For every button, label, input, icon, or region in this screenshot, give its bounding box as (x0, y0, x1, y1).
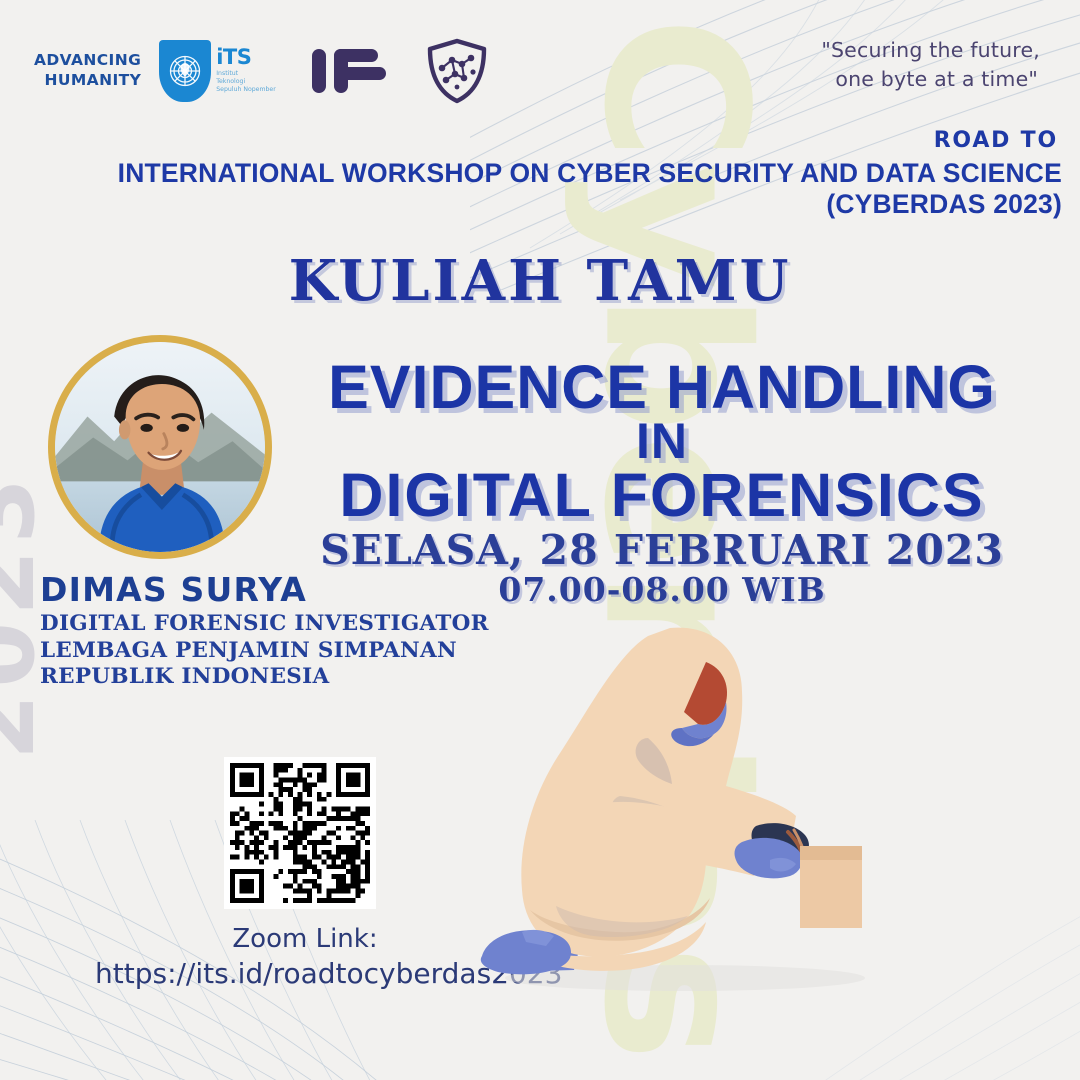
zoom-link-url[interactable]: https://its.id/roadtocyberdas2023 (95, 956, 515, 993)
advancing-humanity-line1: ADVANCING (34, 51, 141, 71)
qr-code[interactable] (224, 757, 376, 909)
its-sub-line2: Teknologi (216, 78, 276, 86)
event-date: SELASA, 28 FEBRUARI 2023 (272, 528, 1052, 572)
speaker-info: DIMAS SURYA DIGITAL FORENSIC INVESTIGATO… (40, 572, 440, 690)
speaker-role: DIGITAL FORENSIC INVESTIGATOR LEMBAGA PE… (40, 611, 440, 690)
logo-row: ADVANCING HUMANITY iTS Institut (34, 38, 488, 104)
event-title: INTERNATIONAL WORKSHOP ON CYBER SECURITY… (0, 158, 1062, 221)
poster-canvas: Cyberdas 2023 ADVANCING HUMANITY (0, 0, 1080, 1080)
forensic-investigator-illustration (470, 610, 900, 1000)
its-shield-icon (159, 40, 211, 102)
tagline-line1: "Securing the future, (821, 38, 1040, 62)
road-to-label: ROAD TO (934, 128, 1058, 153)
advancing-humanity-logo: ADVANCING HUMANITY (34, 51, 141, 91)
zoom-link-label: Zoom Link: (95, 922, 515, 956)
kuliah-tamu-heading: KULIAH TAMU (0, 248, 1080, 314)
speaker-portrait-illustration (55, 342, 265, 552)
speaker-name: DIMAS SURYA (40, 572, 440, 608)
main-title-line3: DIGITAL FORENSICS (272, 466, 1052, 525)
tagline-line2: one byte at a time" (821, 65, 1040, 94)
its-sub-line1: Institut (216, 70, 276, 78)
main-title-line2: IN (272, 417, 1052, 466)
speaker-avatar (48, 335, 272, 559)
its-sub-line3: Sepuluh Nopember (216, 86, 276, 94)
if-logo-icon (310, 45, 388, 97)
its-name: iTS (216, 48, 276, 68)
cyber-shield-icon (426, 38, 488, 104)
its-logo: iTS Institut Teknologi Sepuluh Nopember (159, 40, 276, 102)
speaker-photo-image (55, 342, 265, 552)
its-subtitle: Institut Teknologi Sepuluh Nopember (216, 70, 276, 95)
speaker-role-line3: REPUBLIK INDONESIA (40, 664, 440, 690)
qr-code-image (230, 763, 370, 903)
its-gear-icon (165, 51, 205, 91)
tagline: "Securing the future, one byte at a time… (821, 36, 1040, 94)
its-text-block: iTS Institut Teknologi Sepuluh Nopember (216, 48, 276, 95)
zoom-link-block: Zoom Link: https://its.id/roadtocyberdas… (95, 922, 515, 993)
speaker-role-line2: LEMBAGA PENJAMIN SIMPANAN (40, 638, 440, 664)
advancing-humanity-line2: HUMANITY (34, 71, 141, 91)
main-title: EVIDENCE HANDLING IN DIGITAL FORENSICS (272, 358, 1052, 525)
event-title-line1: INTERNATIONAL WORKSHOP ON CYBER SECURITY… (0, 158, 1062, 189)
speaker-role-line1: DIGITAL FORENSIC INVESTIGATOR (40, 611, 440, 637)
event-title-line2: (CYBERDAS 2023) (0, 189, 1062, 220)
main-title-line1: EVIDENCE HANDLING (272, 358, 1052, 417)
